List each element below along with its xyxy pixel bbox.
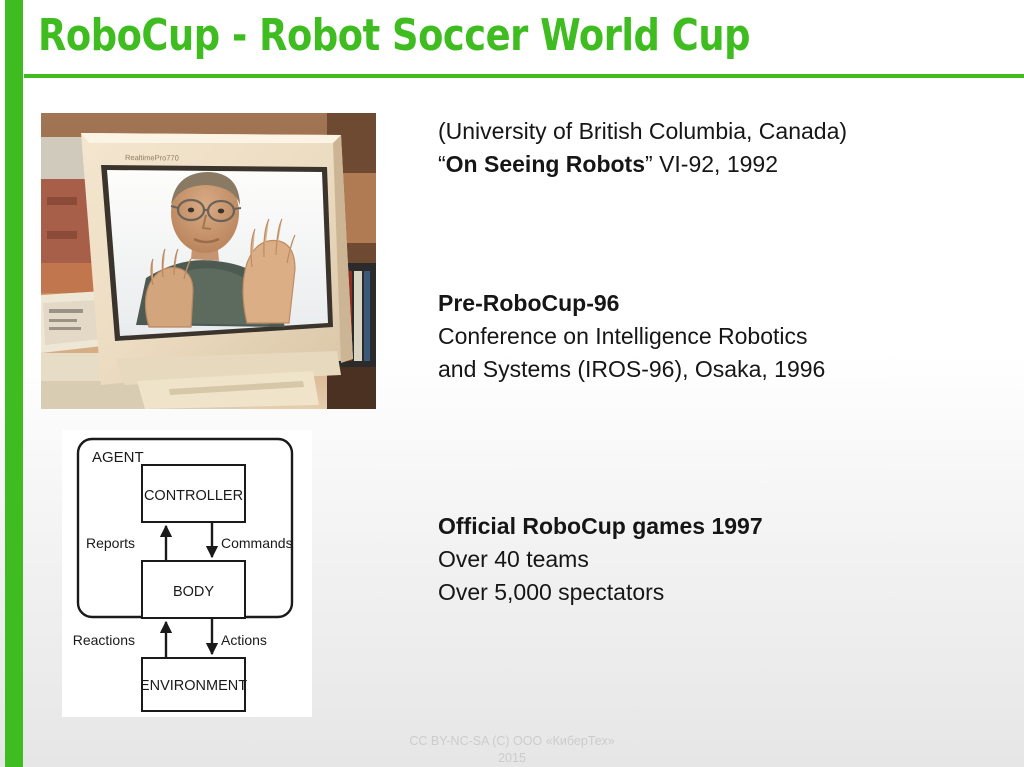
node-controller-label: CONTROLLER bbox=[144, 488, 243, 504]
agent-control-loop-diagram: AGENT CONTROLLER BODY ENVIRONMENT Report… bbox=[62, 430, 312, 717]
crt-monitor-illustration: RealtimePro770 Panasonic bbox=[41, 113, 376, 409]
page-title: RoboCup - Robot Soccer World Cup bbox=[38, 10, 750, 61]
node-body-label: BODY bbox=[173, 584, 214, 600]
pre-robocup-line-2: and Systems (IROS-96), Osaka, 1996 bbox=[438, 353, 825, 386]
text-block-ubc: (University of British Columbia, Canada)… bbox=[438, 115, 847, 181]
ubc-line-2: “On Seeing Robots” VI-92, 1992 bbox=[438, 148, 847, 181]
ubc-line-1: (University of British Columbia, Canada) bbox=[438, 115, 847, 148]
edge-reactions-label: Reactions bbox=[73, 632, 135, 648]
agent-label: AGENT bbox=[92, 449, 144, 466]
pre-robocup-line-1: Conference on Intelligence Robotics bbox=[438, 320, 825, 353]
text-block-pre-robocup: Pre-RoboCup-96 Conference on Intelligenc… bbox=[438, 287, 825, 386]
left-accent-bar bbox=[5, 0, 23, 767]
node-environment-label: ENVIRONMENT bbox=[140, 678, 247, 694]
footer-license: CC BY-NC-SA (C) ООО «КиберТех» 2015 bbox=[0, 733, 1024, 767]
edge-reports-label: Reports bbox=[86, 535, 135, 551]
crt-monitor-photo: RealtimePro770 Panasonic bbox=[41, 113, 376, 409]
paper-title: On Seeing Robots bbox=[446, 151, 645, 177]
footer-year: 2015 bbox=[0, 750, 1024, 767]
paper-venue-year: VI-92, 1992 bbox=[653, 151, 778, 177]
pre-robocup-heading: Pre-RoboCup-96 bbox=[438, 287, 825, 320]
official-games-line-1: Over 40 teams bbox=[438, 543, 763, 576]
quote-close: ” bbox=[645, 151, 653, 177]
footer-license-line: CC BY-NC-SA (C) ООО «КиберТех» bbox=[0, 733, 1024, 750]
official-games-heading: Official RoboCup games 1997 bbox=[438, 510, 763, 543]
agent-diagram-svg: AGENT CONTROLLER BODY ENVIRONMENT Report… bbox=[62, 430, 312, 717]
edge-commands-label: Commands bbox=[221, 535, 293, 551]
edge-actions-label: Actions bbox=[221, 632, 267, 648]
text-block-official-games: Official RoboCup games 1997 Over 40 team… bbox=[438, 510, 763, 609]
title-underline-rule bbox=[24, 74, 1024, 78]
monitor-brand-label: RealtimePro770 bbox=[125, 153, 179, 163]
official-games-line-2: Over 5,000 spectators bbox=[438, 576, 763, 609]
quote-open: “ bbox=[438, 151, 446, 177]
